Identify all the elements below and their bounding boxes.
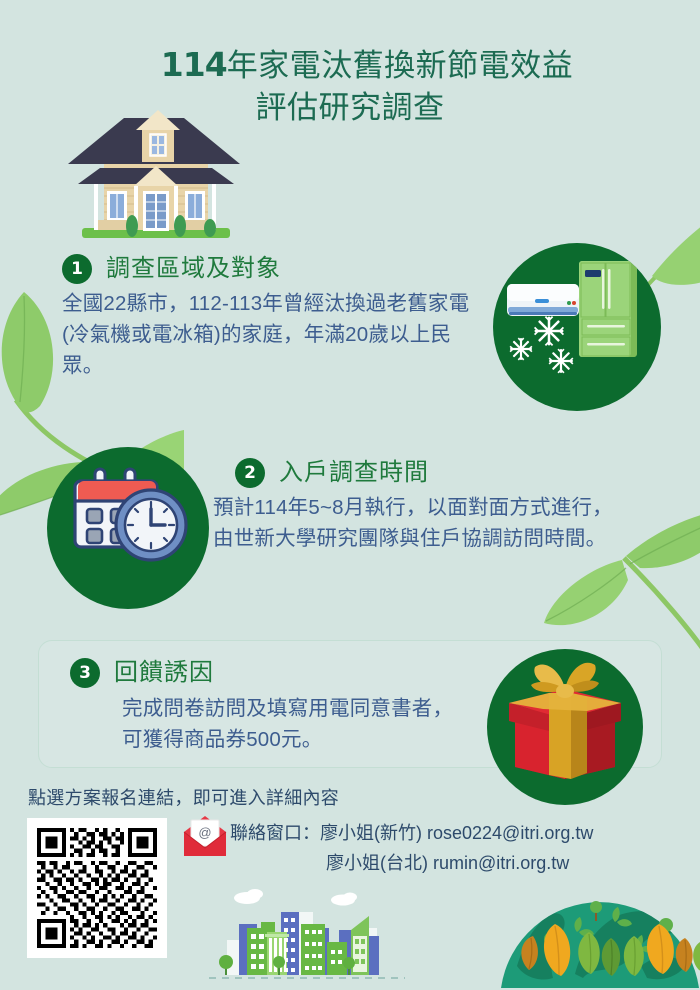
earth-with-leaves-icon <box>491 870 700 990</box>
contact-line-1[interactable]: 聯絡窗口：廖小姐(新竹) rose0224@itri.org.tw <box>230 818 593 848</box>
section-3-body: 完成問卷訪問及填寫用電同意書者，可獲得商品券500元。 <box>70 693 470 755</box>
svg-text:@: @ <box>198 825 211 840</box>
poster-canvas: 114年家電汰舊換新節電效益 評估研究調查 <box>0 0 700 990</box>
section-3-heading: 回饋誘因 <box>114 658 214 688</box>
qr-code-image <box>37 828 157 948</box>
air-conditioner-refrigerator-icon <box>493 243 661 411</box>
section-incentive: 3 回饋誘因 完成問卷訪問及填寫用電同意書者，可獲得商品券500元。 <box>70 658 470 755</box>
section-1-header: 1 調查區域及對象 <box>62 254 482 284</box>
calendar-icon-circle <box>47 447 209 609</box>
gift-icon-circle <box>487 649 643 805</box>
section-3-header: 3 回饋誘因 <box>70 658 470 688</box>
poster-title: 114年家電汰舊換新節電效益 評估研究調查 <box>0 44 700 129</box>
title-year-highlight: 114 <box>161 45 227 84</box>
calendar-clock-icon <box>47 447 209 609</box>
gift-box-icon <box>487 649 643 805</box>
section-survey-area: 1 調查區域及對象 全國22縣市，112-113年曾經汰換過老舊家電(冷氣機或電… <box>62 254 482 381</box>
title-line1-rest: 年家電汰舊換新節電效益 <box>227 48 574 83</box>
section-2-body: 預計114年5~8月執行，以面對面方式進行，由世新大學研究團隊與住戶協調訪問時間… <box>213 492 633 554</box>
green-city-skyline-icon <box>205 880 410 985</box>
qr-code[interactable] <box>27 818 167 958</box>
section-1-body: 全國22縣市，112-113年曾經汰換過老舊家電(冷氣機或電冰箱)的家庭，年滿2… <box>62 288 482 381</box>
section-1-badge: 1 <box>62 254 92 284</box>
email-envelope-icon: @ <box>178 812 232 860</box>
title-line2: 評估研究調查 <box>0 87 700 129</box>
section-1-heading: 調查區域及對象 <box>106 254 281 284</box>
cta-text: 點選方案報名連結，即可進入詳細內容 <box>28 784 339 810</box>
section-2-header: 2 入戶調查時間 <box>213 458 633 488</box>
section-survey-time: 2 入戶調查時間 預計114年5~8月執行，以面對面方式進行，由世新大學研究團隊… <box>213 458 633 554</box>
contact-block: 聯絡窗口：廖小姐(新竹) rose0224@itri.org.tw 廖小姐(台北… <box>230 818 593 878</box>
section-2-badge: 2 <box>235 458 265 488</box>
section-2-heading: 入戶調查時間 <box>279 458 429 488</box>
appliance-icon-circle <box>493 243 661 411</box>
contact-line-2[interactable]: 廖小姐(台北) rumin@itri.org.tw <box>230 848 593 878</box>
section-3-badge: 3 <box>70 658 100 688</box>
